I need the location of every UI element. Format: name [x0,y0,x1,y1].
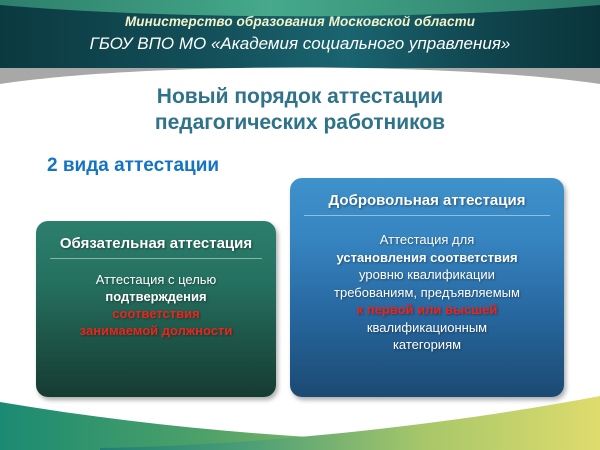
card-mandatory-body-line-1: Аттестация с целью [44,271,268,288]
card-voluntary-body-line-1: Аттестация для [298,231,556,249]
header-text-block: Министерство образования Московской обла… [0,0,600,70]
card-mandatory-heading-line-2: аттестация [170,235,252,252]
card-voluntary-body: Аттестация для установления соответствия… [298,231,556,354]
card-mandatory-body-line-3: соответствия [44,305,268,322]
slide-canvas: Министерство образования Московской обла… [0,0,600,450]
page-title: Новый порядок аттестации педагогических … [0,84,600,136]
card-mandatory-attestation[interactable]: Обязательная аттестация Аттестация с цел… [36,221,276,397]
card-mandatory-body-line-4: занимаемой должности [44,322,268,339]
page-title-line-2: педагогических работников [0,110,600,136]
card-voluntary-body-line-2: установления соответствия [298,249,556,267]
slide-header: Министерство образования Московской обла… [0,0,600,88]
ministry-title: Министерство образования Московской обла… [0,13,600,31]
card-voluntary-heading-line-1: Добровольная [329,192,439,209]
card-voluntary-heading: Добровольная аттестация [298,191,556,210]
card-mandatory-body-line-2: подтверждения [44,288,268,305]
card-mandatory-heading: Обязательная аттестация [44,234,268,253]
card-voluntary-body-line-4: требованиям, предъявляемым [298,284,556,302]
card-voluntary-body-line-5: к первой или высшей [298,301,556,319]
page-title-line-1: Новый порядок аттестации [0,84,600,110]
card-mandatory-body: Аттестация с целью подтверждения соответ… [44,271,268,339]
card-voluntary-divider [304,215,550,216]
card-mandatory-divider [50,258,262,259]
academy-title: ГБОУ ВПО МО «Академия социального управл… [0,32,600,55]
section-subtitle: 2 вида аттестации [47,155,219,177]
card-voluntary-body-line-3: уровню квалификации [298,266,556,284]
card-voluntary-attestation[interactable]: Добровольная аттестация Аттестация для у… [290,178,564,397]
card-voluntary-body-line-7: категориям [298,336,556,354]
card-voluntary-body-line-6: квалификационным [298,319,556,337]
card-mandatory-heading-line-1: Обязательная [60,235,166,252]
card-voluntary-heading-line-2: аттестация [443,192,525,209]
